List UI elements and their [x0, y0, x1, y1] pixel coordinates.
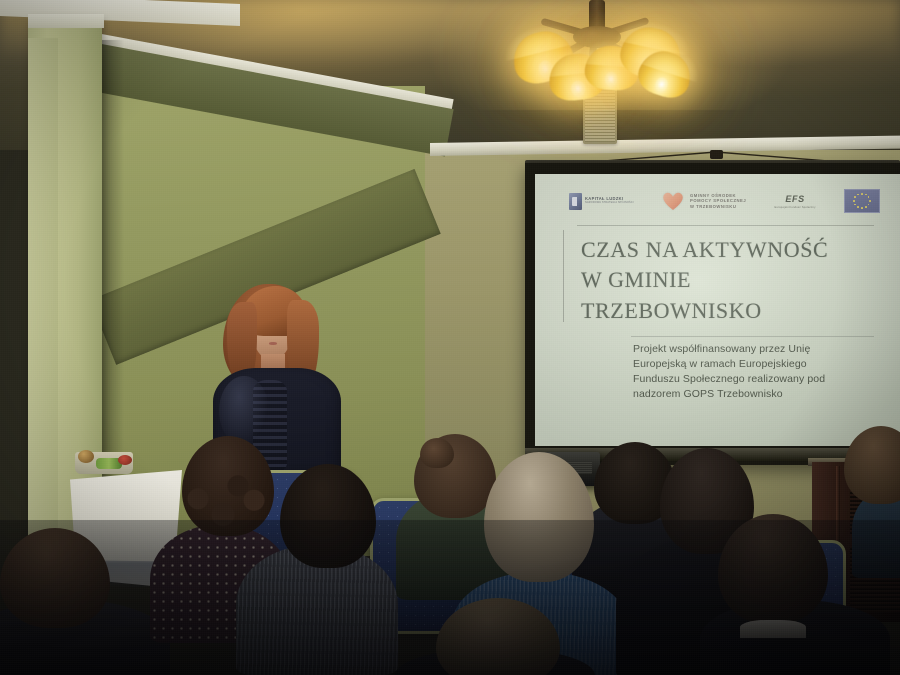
gops-text: GMINNY OŚRODEK POMOCY SPOŁECZNEJ W TRZEB… — [690, 193, 746, 209]
slide: KAPITAŁ LUDZKI NARODOWA STRATEGIA SPÓJNO… — [535, 174, 900, 446]
audience-collar — [740, 620, 806, 638]
projection-screen-surface: KAPITAŁ LUDZKI NARODOWA STRATEGIA SPÓJNO… — [535, 174, 900, 446]
slide-title-line-1: CZAS NA AKTYWNOŚĆ — [581, 235, 888, 265]
gops-line-3: W TRZEBOWNISKU — [690, 204, 746, 209]
slide-title-line-2: W GMINIE — [581, 265, 888, 295]
slide-title: CZAS NA AKTYWNOŚĆ W GMINIE TRZEBOWNISKO — [581, 235, 888, 326]
food-item — [78, 450, 94, 463]
heart-icon — [662, 191, 684, 211]
slide-logo-row: KAPITAŁ LUDZKI NARODOWA STRATEGIA SPÓJNO… — [569, 184, 888, 218]
slide-title-line-3: TRZEBOWNISKO — [581, 296, 888, 326]
audience-hair-curls — [178, 470, 278, 542]
column-cap — [28, 14, 104, 28]
efs-subtitle: Europejski Fundusz Społeczny — [775, 206, 816, 209]
logo-gops: GMINNY OŚRODEK POMOCY SPOŁECZNEJ W TRZEB… — [662, 191, 746, 211]
slide-title-accent-bar — [563, 230, 564, 322]
efs-wordmark: EFS — [785, 194, 804, 204]
kapital-ludzki-mark-icon — [569, 193, 582, 210]
slide-body-line-1: Projekt współfinansowany przez Unię — [633, 342, 870, 357]
presenter-mouth — [269, 342, 277, 345]
slide-rule-mid — [631, 336, 874, 337]
logo-efs: EFS Europejski Fundusz Społeczny — [775, 194, 816, 209]
conference-room-photo: KAPITAŁ LUDZKI NARODOWA STRATEGIA SPÓJNO… — [0, 0, 900, 675]
kapital-ludzki-subtitle: NARODOWA STRATEGIA SPÓJNOŚCI — [585, 202, 634, 205]
logo-kapital-ludzki: KAPITAŁ LUDZKI NARODOWA STRATEGIA SPÓJNO… — [569, 193, 634, 210]
food-item — [118, 455, 132, 465]
slide-body-line-4: nadzorem GOPS Trzebownisko — [633, 387, 870, 402]
column-face — [28, 38, 58, 600]
slide-body-line-2: Europejską w ramach Europejskiego — [633, 357, 870, 372]
audience-hair-bun — [420, 438, 454, 468]
slide-body-line-3: Funduszu Społecznego realizowany pod — [633, 372, 870, 387]
lamp-shade — [633, 45, 696, 103]
slide-body: Projekt współfinansowany przez Unię Euro… — [633, 342, 870, 402]
ceiling-lamp — [505, 0, 705, 110]
eu-flag-icon — [844, 189, 880, 213]
slide-rule-top — [577, 225, 874, 226]
